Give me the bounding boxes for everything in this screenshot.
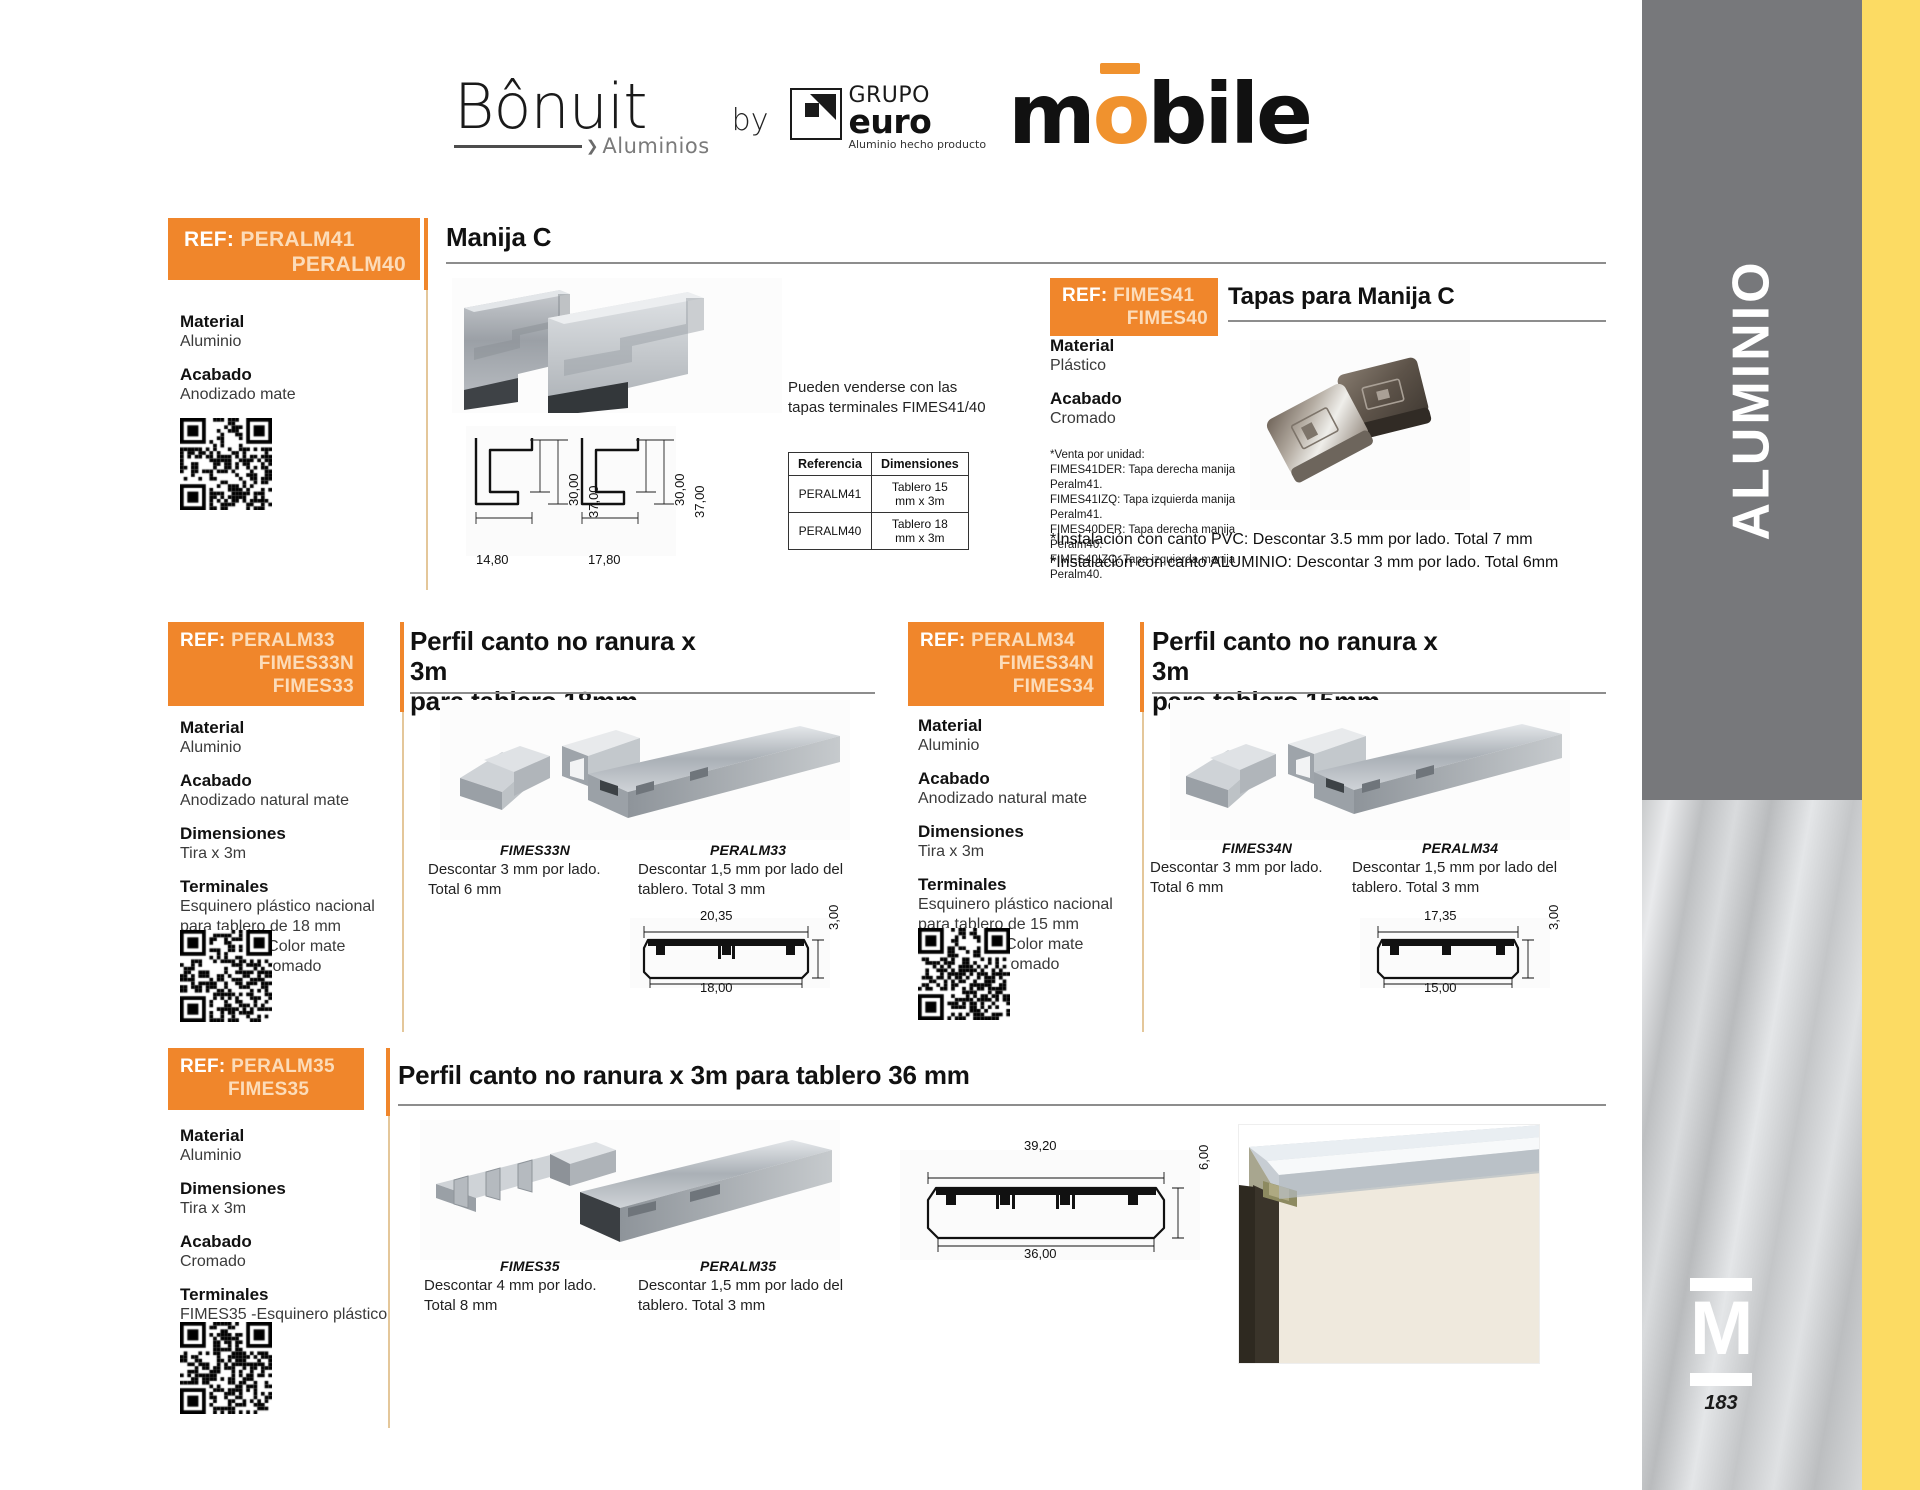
ref-line-2: FIMES34N [920,652,1094,675]
brand-logo-row: Bônuit ❯ Aluminios by GRUPO euro Alumini… [454,72,1310,162]
bonuit-subtext: Aluminios [602,134,709,158]
table-row: PERALM41 Tablero 15 mm x 3m [789,476,969,513]
unit-note-header: *Venta por unidad: [1050,448,1255,463]
ref-value-1: FIMES34N [920,652,1094,675]
photo-perfil-15 [1170,700,1570,840]
qr-code-perfil-18[interactable] [180,930,272,1022]
table-header-referencia: Referencia [789,453,872,476]
dim-30-left: 30,00 [566,473,581,506]
photo-manija-c [452,278,782,413]
ref-label: REF: [184,228,234,251]
table-row: PERALM40 Tablero 18 mm x 3m [789,513,969,550]
m-mark-letter: M [1690,1296,1752,1368]
page-header: Bônuit ❯ Aluminios by GRUPO euro Alumini… [0,0,1640,200]
dim-1800: 18,00 [700,980,733,995]
spec-value-dimensiones: Tira x 3m [918,842,1142,862]
spec-value-dimensiones: Tira x 3m [180,1199,404,1219]
spec-key-material: Material [1050,336,1230,356]
install-notes-tapas: *Instalación con canto PVC: Descontar 3.… [1050,528,1610,574]
section-title-manija-c: Manija C [446,222,551,252]
ref-value-1: FIMES35 [180,1078,354,1101]
cross-section-18-drawing [630,918,830,988]
ref-box-perfil-18: REF: PERALM33 FIMES33N FIMES33 [168,622,364,706]
ref-line-1: REF: PERALM41 [184,227,406,252]
spec-key-acabado: Acabado [918,769,1142,789]
divider-orange-3 [400,622,404,712]
bonuit-logo: Bônuit ❯ Aluminios [454,76,710,162]
spec-value-dimensiones: Tira x 3m [180,844,404,864]
specs-manija-c: Material Aluminio Acabado Anodizado mate [180,312,410,405]
section-title-tapas: Tapas para Manija C [1228,282,1455,312]
mobile-logo-o-letter: o [1093,65,1148,163]
cross-section-perfil-18 [630,918,830,988]
spec-key-material: Material [918,716,1142,736]
ref-value-0: PERALM35 [231,1056,335,1077]
ref-line-1: REF: PERALM34 [920,629,1094,652]
title-rule-1 [446,262,1606,264]
ref-value-1: FIMES33N [180,652,354,675]
ref-box-manija-c: REF: PERALM41 PERALM40 [168,218,420,280]
mobile-logo-prefix: m [1008,65,1093,163]
dim-1480: 14,80 [476,552,509,567]
divider-4 [1142,712,1144,1032]
spec-value-material: Aluminio [180,738,404,758]
spec-key-acabado: Acabado [180,771,404,791]
ref-value-0: PERALM41 [240,228,354,251]
caption-ref-fimes34n: FIMES34N [1222,840,1292,856]
category-label-text: ALUMINIO [1722,259,1782,540]
grupo-euro-square-icon [790,88,842,140]
qr-code-perfil-15[interactable] [918,928,1010,1020]
spec-value-acabado: Anodizado mate [180,385,410,405]
metal-texture-rail [1642,800,1862,1490]
ref-line-2: FIMES40 [1062,307,1208,330]
unit-note-1: FIMES41IZQ: Tapa izquierda manija Peralm… [1050,493,1255,523]
caption-ref-fimes35: FIMES35 [500,1258,560,1274]
unit-note-0: FIMES41DER: Tapa derecha manija Peralm41… [1050,463,1255,493]
macron-icon [1100,63,1140,74]
bonuit-rule [454,145,582,148]
by-connector: by [732,103,769,162]
section-title-perfil-36: Perfil canto no ranura x 3m para tablero… [398,1060,970,1090]
qr-code-perfil-36[interactable] [180,1322,272,1414]
perfil-18-illustration [440,700,850,840]
dim-3600: 36,00 [1024,1246,1057,1261]
install-note-1: *Instalación con canto ALUMINIO: Descont… [1050,551,1610,574]
perfil-15-illustration [1170,700,1570,840]
specs-tapas: Material Plástico Acabado Cromado [1050,336,1230,429]
spec-value-acabado: Cromado [1050,409,1230,429]
spec-key-terminales: Terminales [918,875,1142,895]
ref-box-perfil-15: REF: PERALM34 FIMES34N FIMES34 [908,622,1104,706]
dim-300-18: 3,00 [826,905,841,930]
cell-dim-0: Tablero 15 mm x 3m [871,476,968,513]
caption-text-peralm35: Descontar 1,5 mm por lado del tablero. T… [638,1276,848,1316]
title-rule-2 [1228,320,1606,322]
ref-box-tapas: REF: FIMES41 FIMES40 [1050,278,1218,336]
ref-line-3: FIMES34 [920,675,1094,698]
ref-value-2: FIMES34 [920,675,1094,698]
cross-section-perfil-15 [1360,918,1550,988]
category-label: ALUMINIO [1642,0,1862,800]
cell-ref-1: PERALM40 [789,513,872,550]
photo-perfil-18 [440,700,850,840]
ref-value-2: FIMES33 [180,675,354,698]
caption-text-fimes33n: Descontar 3 mm por lado. Total 6 mm [428,860,628,900]
cross-section-15-drawing [1360,918,1550,988]
spec-key-dimensiones: Dimensiones [918,822,1142,842]
dim-600-36: 6,00 [1196,1145,1211,1170]
divider-orange-1 [424,218,428,290]
spec-key-material: Material [180,718,404,738]
yellow-edge-rail [1862,0,1920,1490]
ref-value-0: FIMES41 [1113,285,1194,306]
divider-1 [426,290,428,590]
ref-value-0: PERALM33 [231,630,335,651]
page-number: 183 [1690,1392,1752,1415]
caption-text-fimes34n: Descontar 3 mm por lado. Total 6 mm [1150,858,1350,898]
caption-text-fimes35: Descontar 4 mm por lado. Total 8 mm [424,1276,624,1316]
note-manija-c: Pueden venderse con las tapas terminales… [788,378,988,418]
ref-label: REF: [180,1056,226,1077]
spec-key-dimensiones: Dimensiones [180,824,404,844]
ref-line-2: FIMES35 [180,1078,354,1101]
divider-orange-5 [386,1048,390,1116]
spec-value-material: Aluminio [180,1146,404,1166]
spec-key-terminales: Terminales [180,877,404,897]
grupo-euro-logo: GRUPO euro Aluminio hecho producto [790,85,986,162]
divider-3 [402,712,404,1032]
ref-line-1: REF: PERALM33 [180,629,354,652]
divider-orange-4 [1140,622,1144,712]
title-line-1: Perfil canto no ranura x 3m [1152,626,1462,686]
cross-section-perfil-36 [900,1150,1200,1260]
spec-value-acabado: Anodizado natural mate [180,791,404,811]
euro-word: euro [848,105,986,138]
tapas-illustration [1250,340,1470,510]
ref-label: REF: [920,630,966,651]
manija-c-profile-illustration [452,278,782,413]
qr-code-manija-c[interactable] [180,418,272,510]
caption-ref-peralm35: PERALM35 [700,1258,776,1274]
ref-label: REF: [1062,285,1108,306]
spec-value-material: Plástico [1050,356,1230,376]
spec-key-dimensiones: Dimensiones [180,1179,404,1199]
dim-30-right: 30,00 [672,473,687,506]
ref-value-0: PERALM34 [971,630,1075,651]
divider-5 [388,1116,390,1428]
spec-value-acabado: Cromado [180,1252,404,1272]
ref-line-2: PERALM40 [184,252,406,277]
perfil-36-illustration [420,1120,840,1260]
photo-perfil-36 [420,1120,840,1260]
bonuit-wordmark: Bônuit [454,76,710,138]
ref-line-3: FIMES33 [180,675,354,698]
dim-1735: 17,35 [1424,908,1457,923]
ref-box-perfil-36: REF: PERALM35 FIMES35 [168,1048,364,1110]
mobile-logo-o: o [1093,65,1148,163]
catalog-page: ALUMINIO M 183 Bônuit ❯ Aluminios by GRU… [0,0,1920,1490]
grupo-euro-text: GRUPO euro Aluminio hecho producto [848,85,986,150]
photo-application-corner [1238,1124,1540,1364]
ref-line-2: FIMES33N [180,652,354,675]
caption-ref-peralm33: PERALM33 [710,842,786,858]
cross-section-36-drawing [900,1150,1200,1260]
table-header-row: Referencia Dimensiones [789,453,969,476]
mobile-logo: mobile [1008,72,1310,162]
corner-application-illustration [1239,1125,1540,1364]
title-rule-5 [398,1104,1606,1106]
ref-line-1: REF: FIMES41 [1062,284,1208,307]
spec-table-manija-c: Referencia Dimensiones PERALM41 Tablero … [788,452,969,550]
spec-value-acabado: Anodizado natural mate [918,789,1142,809]
spec-key-material: Material [180,1126,404,1146]
cell-ref-0: PERALM41 [789,476,872,513]
spec-key-acabado: Acabado [180,1232,404,1252]
caption-ref-peralm34: PERALM34 [1422,840,1498,856]
dim-37-right: 37,00 [692,485,707,518]
dim-1780: 17,80 [588,552,621,567]
specs-perfil-36: Material Aluminio Dimensiones Tira x 3m … [180,1126,404,1345]
title-line-1: Perfil canto no ranura x 3m [410,626,710,686]
install-note-0: *Instalación con canto PVC: Descontar 3.… [1050,528,1610,551]
caption-text-peralm34: Descontar 1,5 mm por lado del tablero. T… [1352,858,1562,898]
mobile-logo-suffix: bile [1147,65,1310,163]
table-header-dimensiones: Dimensiones [871,453,968,476]
mobile-m-mark-icon: M [1690,1278,1752,1386]
cell-dim-1: Tablero 18 mm x 3m [871,513,968,550]
photo-tapas [1250,340,1470,510]
dim-1500: 15,00 [1424,980,1457,995]
grupo-euro-tagline: Aluminio hecho producto [848,139,986,150]
ref-value-1: FIMES40 [1062,307,1208,330]
dim-3920: 39,20 [1024,1138,1057,1153]
dim-37-left: 37,00 [586,485,601,518]
ref-value-1: PERALM40 [184,252,406,277]
ref-line-1: REF: PERALM35 [180,1055,354,1078]
title-rule-4 [1152,692,1606,694]
ref-label: REF: [180,630,226,651]
spec-key-acabado: Acabado [1050,389,1230,409]
chevron-right-icon: ❯ [586,139,599,154]
spec-key-acabado: Acabado [180,365,410,385]
spec-key-material: Material [180,312,410,332]
caption-text-peralm33: Descontar 1,5 mm por lado del tablero. T… [638,860,848,900]
title-rule-3 [410,692,875,694]
spec-value-material: Aluminio [918,736,1142,756]
caption-ref-fimes33n: FIMES33N [500,842,570,858]
spec-key-terminales: Terminales [180,1285,404,1305]
m-mark-bottom-bar [1690,1373,1752,1386]
spec-value-material: Aluminio [180,332,410,352]
dim-300-15: 3,00 [1546,905,1561,930]
dim-2035: 20,35 [700,908,733,923]
